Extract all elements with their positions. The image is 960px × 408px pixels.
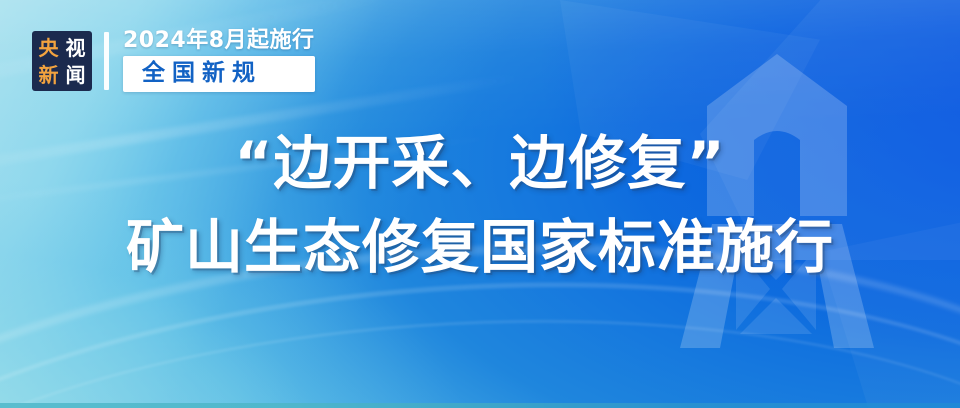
headline-line-1: “边开采、边修复” xyxy=(0,132,960,195)
logo-char-yang: 央 xyxy=(39,38,59,58)
effective-date-kicker: 2024年8月起施行 xyxy=(123,30,315,52)
headline-block: “边开采、边修复” 矿山生态修复国家标准施行 xyxy=(0,132,960,281)
national-new-rules-chip: 全国新规 xyxy=(123,56,315,92)
headline-line-2: 矿山生态修复国家标准施行 xyxy=(0,213,960,281)
header-divider xyxy=(104,32,109,90)
header-bar: 央 视 新 闻 2024年8月起施行 全国新规 xyxy=(32,30,315,92)
logo-char-shi: 视 xyxy=(66,38,86,58)
header-text-group: 2024年8月起施行 全国新规 xyxy=(123,30,315,92)
footer-accent-strip xyxy=(0,403,960,408)
cctv-news-logo[interactable]: 央 视 新 闻 xyxy=(32,31,92,91)
logo-char-xin: 新 xyxy=(39,65,59,85)
poster-canvas: 央 视 新 闻 2024年8月起施行 全国新规 “边开采、边修复” 矿山生态修复… xyxy=(0,0,960,408)
logo-char-wen: 闻 xyxy=(66,65,86,85)
